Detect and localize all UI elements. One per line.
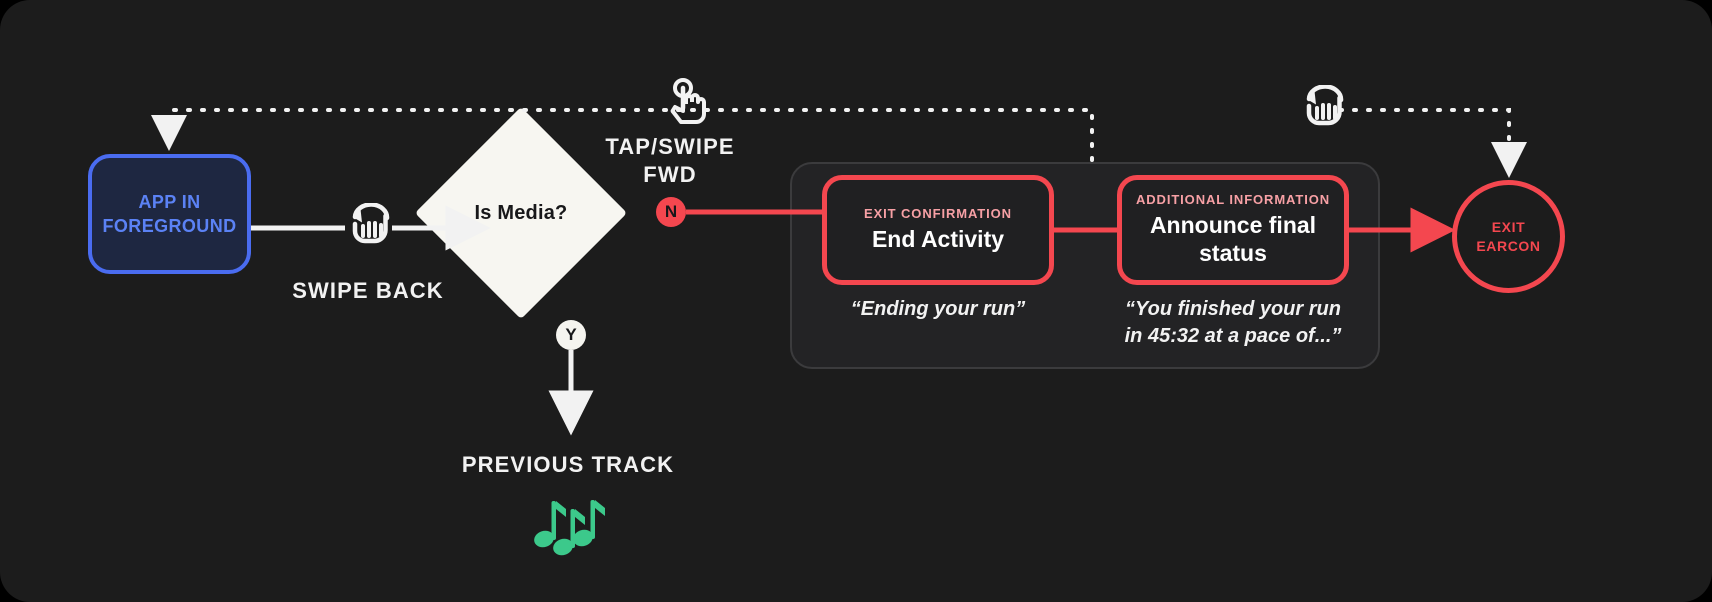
flow-diagram-canvas: APP IN FOREGROUND SWIPE BACK Is Media? N… <box>0 0 1712 602</box>
card-exit-confirmation[interactable]: EXIT CONFIRMATION End Activity <box>822 175 1054 285</box>
node-exit-earcon[interactable]: EXIT EARCON <box>1452 180 1565 293</box>
badge-no: N <box>656 197 686 227</box>
exit-earcon-line2: EARCON <box>1476 237 1540 256</box>
exit-earcon-line1: EXIT <box>1476 218 1540 237</box>
swipe-back-gesture-icon <box>348 203 392 253</box>
card-exit-confirmation-title: End Activity <box>872 226 1004 254</box>
connector-return-to-earcon <box>1340 110 1509 172</box>
caption-additional-information: “You finished your run in 45:32 at a pac… <box>1117 296 1349 350</box>
card-additional-information-eyebrow: ADDITIONAL INFORMATION <box>1136 192 1330 207</box>
badge-yes: Y <box>556 320 586 350</box>
caption-exit-confirmation: “Ending your run” <box>822 296 1054 323</box>
music-notes-icon <box>533 495 605 557</box>
tap-gesture-icon <box>666 78 712 128</box>
card-exit-confirmation-eyebrow: EXIT CONFIRMATION <box>864 206 1012 221</box>
exit-earcon-label: EXIT EARCON <box>1476 218 1540 256</box>
connector-return-to-app <box>169 110 1092 160</box>
swipe-back-gesture-icon-return <box>1302 85 1346 135</box>
card-additional-information-title: Announce final status <box>1122 212 1344 267</box>
card-additional-information[interactable]: ADDITIONAL INFORMATION Announce final st… <box>1117 175 1349 285</box>
